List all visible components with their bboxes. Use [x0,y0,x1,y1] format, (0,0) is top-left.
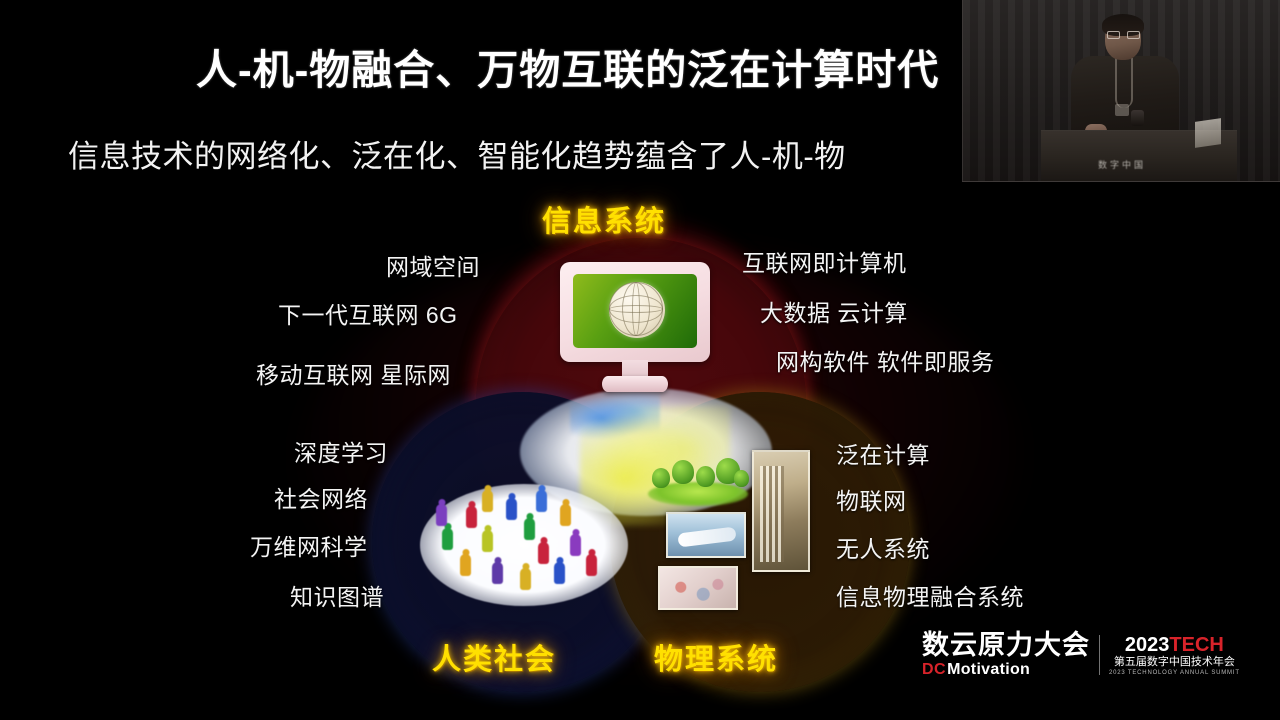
glasses-icon [1107,31,1140,39]
logo-year: 2023 [1125,634,1170,656]
tree-icon [734,470,749,487]
person-icon [460,554,471,576]
person-icon [520,568,531,590]
monitor-base [602,376,668,392]
logo-brand: 数云原力大会 DC Motivation [922,632,1090,679]
logo-brand-en-accent: DC [922,661,946,679]
logo-brand-en-rest: Motivation [947,661,1030,679]
person-icon [482,490,493,512]
tree-icon [672,460,694,484]
person-icon [436,504,447,526]
logo-brand-cn: 数云原力大会 [922,632,1090,660]
presentation-screenshot: 人-机-物融合、万物互联的泛在计算时代 信息技术的网络化、泛在化、智能化趋势蕴含… [0,0,1280,720]
logo-brand-en: DC Motivation [922,661,1090,679]
keyword-label-bigdata-cloud: 大数据 云计算 [760,294,908,328]
logo-summit-cn: 第五届数字中国技术年会 [1114,657,1235,668]
person-icon [554,562,565,584]
speaker-badge [1115,104,1129,116]
keyword-label-web-science: 万维网科学 [250,528,368,562]
logo-year-line: 2023TECH [1125,635,1224,655]
speaker-video-overlay[interactable]: 数字中国 [962,0,1280,182]
presenter-clicker [1131,110,1144,126]
person-icon [536,490,547,512]
monitor-screen [573,274,697,348]
person-icon [570,534,581,556]
speaker-lanyard [1115,58,1133,108]
keyword-label-social-network: 社会网络 [274,480,368,514]
person-icon [560,504,571,526]
logo-summit: 2023TECH 第五届数字中国技术年会 2023 TECHNOLOGY ANN… [1109,635,1240,676]
keyword-label-unmanned-systems: 无人系统 [836,530,930,564]
computer-monitor-icon [560,262,710,394]
podium-plate [1195,118,1221,148]
conference-logo: 数云原力大会 DC Motivation 2023TECH 第五届数字中国技术年… [922,632,1240,679]
keyword-label-knowledge-graph: 知识图谱 [290,578,384,612]
ecology-illustration [646,448,750,508]
person-icon [482,530,493,552]
person-icon [538,542,549,564]
keyword-label-internetware-saas: 网构软件 软件即服务 [776,343,994,377]
venn-caption-human-society: 人类社会 [432,636,556,678]
logo-tech: TECH [1169,634,1223,656]
keyword-label-deep-learning: 深度学习 [294,434,388,468]
tree-icon [696,466,715,487]
microscopy-photo [658,566,738,610]
keyword-label-cyberspace: 网域空间 [386,248,480,282]
person-icon [466,506,477,528]
monitor-bezel [560,262,710,362]
person-icon [492,562,503,584]
keyword-label-ubiquitous-computing: 泛在计算 [836,436,930,470]
keyword-label-internet-as-computer: 互联网即计算机 [742,244,907,278]
keyword-label-cyber-physical: 信息物理融合系统 [836,578,1024,612]
person-icon [524,518,535,540]
video-overlay-caption: 数字中国 [963,158,1280,171]
keyword-label-next-gen-internet: 下一代互联网 6G [278,296,458,330]
globe-wireframe-icon [609,282,665,338]
person-icon [506,498,517,520]
keyword-label-iot: 物联网 [836,482,907,516]
venn-caption-information-system: 信息系统 [542,198,666,240]
person-icon [586,554,597,576]
keyword-label-mobile-internet: 移动互联网 星际网 [256,356,451,390]
logo-divider [1099,635,1100,675]
people-network-illustration [420,484,628,606]
person-icon [442,528,453,550]
logo-summit-en: 2023 TECHNOLOGY ANNUAL SUMMIT [1109,670,1240,676]
venn-caption-physical-system: 物理系统 [654,636,778,678]
skyscraper-photo [752,450,810,572]
airplane-photo [666,512,746,558]
tree-icon [652,468,670,488]
